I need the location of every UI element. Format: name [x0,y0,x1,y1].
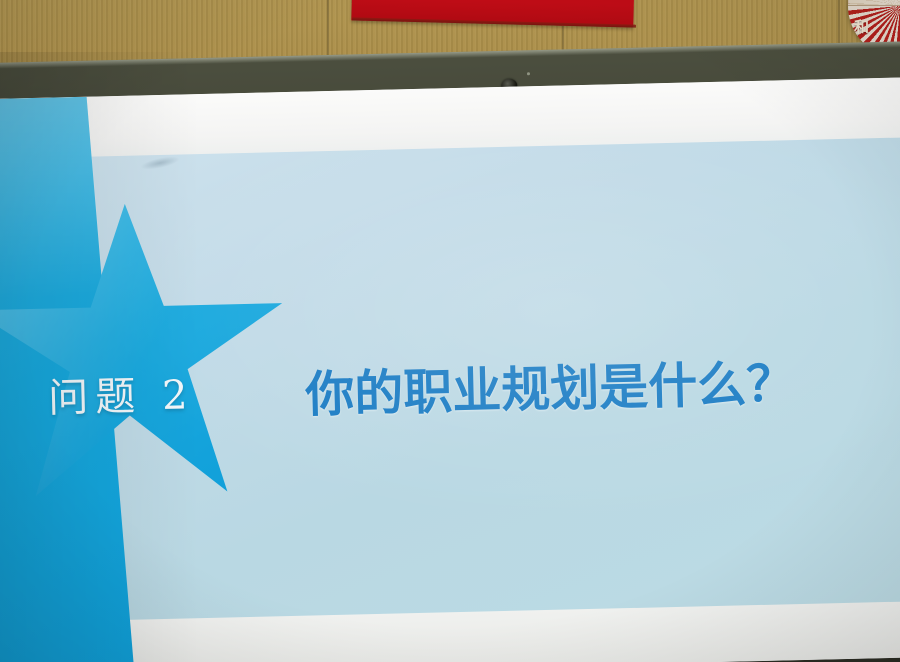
presentation-slide[interactable]: 问题 2 你的职业规划是什么？ [0,76,900,662]
emblem-fan-lines [848,0,900,5]
emblem-fan-shape [848,0,900,6]
question-badge-label: 问题 2 [48,360,279,423]
status-dot-icon [527,72,530,75]
screenshot-root: 国家 和 问题 2 你的职业规划是什么？ [0,0,900,662]
slide-title: 你的职业规划是什么？ [304,344,796,427]
emblem-bottom-text: 和 [854,16,869,37]
